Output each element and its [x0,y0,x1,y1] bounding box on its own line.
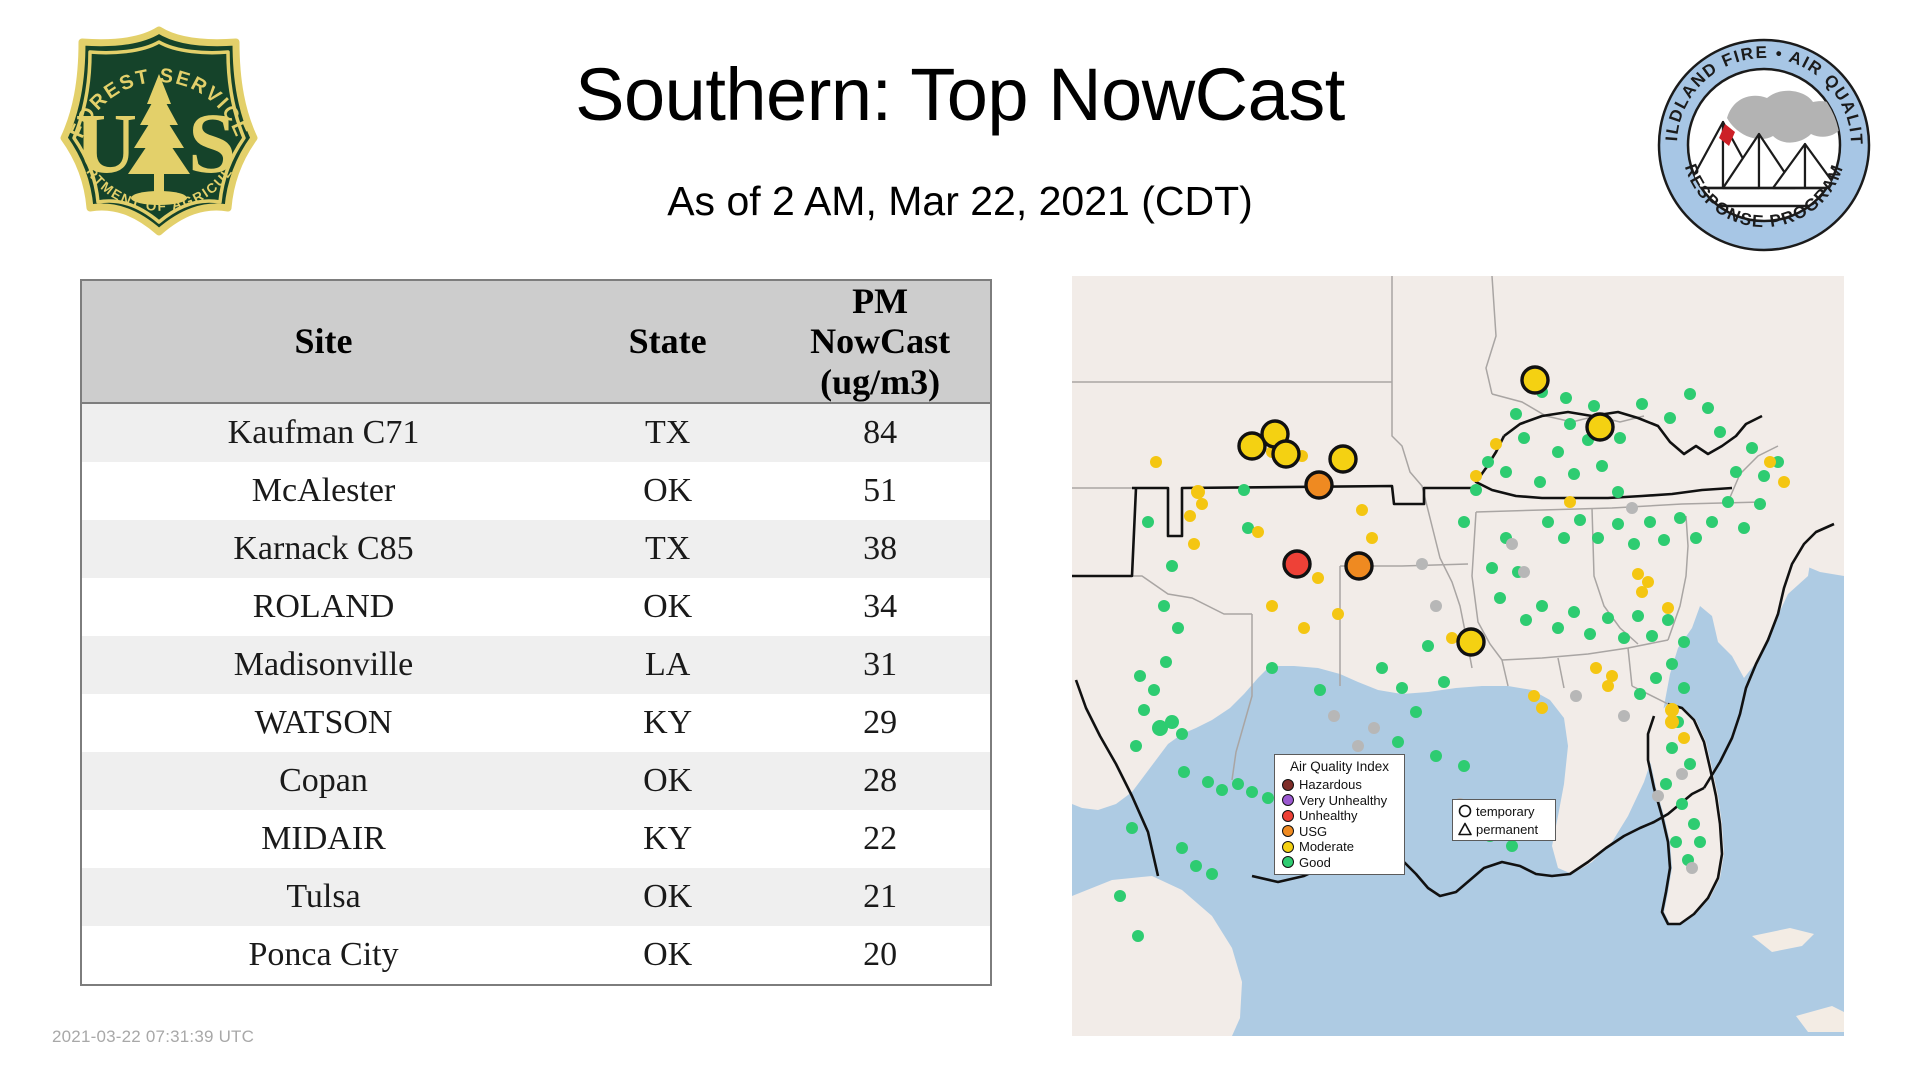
state-cell: LA [565,636,770,694]
aqi-legend-row: USG [1282,823,1397,839]
state-cell: OK [565,868,770,926]
pm-nowcast-cell: 20 [770,926,990,984]
site-cell: ROLAND [82,578,565,636]
aqi-legend-row: Moderate [1282,839,1397,855]
page-subtitle: As of 2 AM, Mar 22, 2021 (CDT) [300,178,1620,225]
column-header-site: Site [82,281,565,403]
state-cell: TX [565,520,770,578]
aqi-legend-swatch-icon [1282,810,1294,822]
aqi-legend-label: Moderate [1299,840,1354,853]
table-row: Ponca CityOK20 [82,926,990,984]
column-header-pm-nowcast: PM NowCast (ug/m3) [770,281,990,403]
map-canvas[interactable]: Kaufman C71 — UnhealthyMcAlester — USGKa… [1072,276,1844,1036]
state-cell: TX [565,403,770,462]
highlighted-site-marker[interactable]: MIDAIR — Moderate [1587,414,1613,440]
state-cell: OK [565,752,770,810]
wildland-fire-air-quality-seal-icon: WILDLAND FIRE • AIR QUALITY RESPONSE PRO… [1655,36,1873,254]
temporary-circle-icon [1457,803,1473,819]
aqi-legend-row: Good [1282,854,1397,870]
highlighted-site-marker[interactable]: Karnack C85 — USG [1346,553,1372,579]
nowcast-table-container: Site State PM NowCast (ug/m3) Kaufman C7… [80,279,992,986]
state-cell: KY [565,694,770,752]
pm-nowcast-cell: 28 [770,752,990,810]
site-cell: Kaufman C71 [82,403,565,462]
column-header-state-label: State [629,321,707,361]
pm-nowcast-cell: 51 [770,462,990,520]
usda-forest-service-logo: U S FOREST SERVICE DEPARTMENT OF AGRICUL… [52,22,267,257]
highlighted-site-marker[interactable]: Kaufman C71 — Unhealthy [1284,551,1310,577]
pm-nowcast-cell: 29 [770,694,990,752]
aqi-legend-swatch-icon [1282,779,1294,791]
aqi-legend-title: Air Quality Index [1282,760,1397,775]
table-row: ROLANDOK34 [82,578,990,636]
state-cell: KY [565,810,770,868]
table-row: MIDAIRKY22 [82,810,990,868]
site-cell: WATSON [82,694,565,752]
table-row: Kaufman C71TX84 [82,403,990,462]
aqi-legend-row: Hazardous [1282,777,1397,793]
highlighted-site-marker[interactable]: Ponca City — Moderate [1239,433,1265,459]
site-type-temporary-label: temporary [1476,804,1535,819]
site-cell: Ponca City [82,926,565,984]
column-header-site-label: Site [295,321,353,361]
pm-nowcast-cell: 34 [770,578,990,636]
table-header: Site State PM NowCast (ug/m3) [82,281,990,403]
column-header-state: State [565,281,770,403]
run-timestamp: 2021-03-22 07:31:39 UTC [52,1027,254,1047]
aqi-legend-label: Very Unhealthy [1299,794,1387,807]
table-row: MadisonvilleLA31 [82,636,990,694]
table-row: McAlesterOK51 [82,462,990,520]
table-header-row: Site State PM NowCast (ug/m3) [82,281,990,403]
aqi-legend-swatch-icon [1282,825,1294,837]
site-cell: McAlester [82,462,565,520]
pm-nowcast-cell: 22 [770,810,990,868]
permanent-triangle-icon [1457,821,1473,837]
site-type-temporary-row: temporary [1457,802,1551,820]
nowcast-table: Site State PM NowCast (ug/m3) Kaufman C7… [82,281,990,984]
highlighted-site-marker[interactable]: WATSON — Moderate [1522,367,1548,393]
table-row: CopanOK28 [82,752,990,810]
aqi-legend: Air Quality Index HazardousVery Unhealth… [1274,754,1405,875]
pm-line-3: (ug/m3) [820,362,940,402]
pm-line-2: NowCast [810,321,950,361]
site-type-permanent-label: permanent [1476,822,1538,837]
aqi-legend-swatch-icon [1282,841,1294,853]
site-type-legend: temporary permanent [1452,799,1556,841]
forest-service-shield-icon: U S FOREST SERVICE DEPARTMENT OF AGRICUL… [52,22,267,257]
highlighted-site-marker[interactable]: Tulsa — Moderate [1273,441,1299,467]
aqi-legend-swatch-icon [1282,856,1294,868]
state-cell: OK [565,462,770,520]
site-cell: Karnack C85 [82,520,565,578]
pm-line-1: PM [852,281,908,321]
table-row: WATSONKY29 [82,694,990,752]
aqi-legend-label: Good [1299,856,1331,869]
aqi-map[interactable]: Kaufman C71 — UnhealthyMcAlester — USGKa… [1072,276,1844,1036]
pm-nowcast-cell: 31 [770,636,990,694]
wfaqrp-logo: WILDLAND FIRE • AIR QUALITY RESPONSE PRO… [1655,36,1873,254]
aqi-legend-label: USG [1299,825,1327,838]
aqi-legend-row: Unhealthy [1282,808,1397,824]
highlighted-site-marker[interactable]: Madisonville — Moderate [1458,629,1484,655]
pm-nowcast-cell: 38 [770,520,990,578]
state-cell: OK [565,578,770,636]
site-cell: Madisonville [82,636,565,694]
table-row: Karnack C85TX38 [82,520,990,578]
site-cell: Copan [82,752,565,810]
aqi-legend-label: Unhealthy [1299,809,1358,822]
header: U S FOREST SERVICE DEPARTMENT OF AGRICUL… [0,0,1920,268]
aqi-legend-items: HazardousVery UnhealthyUnhealthyUSGModer… [1282,777,1397,870]
site-type-permanent-row: permanent [1457,820,1551,838]
pm-nowcast-cell: 21 [770,868,990,926]
table-body: Kaufman C71TX84McAlesterOK51Karnack C85T… [82,403,990,984]
table-row: TulsaOK21 [82,868,990,926]
state-cell: OK [565,926,770,984]
site-cell: Tulsa [82,868,565,926]
aqi-legend-row: Very Unhealthy [1282,792,1397,808]
page-title: Southern: Top NowCast [300,52,1620,137]
aqi-legend-swatch-icon [1282,794,1294,806]
pm-nowcast-cell: 84 [770,403,990,462]
highlighted-site-marker[interactable]: ROLAND — Moderate [1330,446,1356,472]
site-cell: MIDAIR [82,810,565,868]
highlighted-site-marker[interactable]: McAlester — USG [1306,472,1332,498]
aqi-legend-label: Hazardous [1299,778,1362,791]
